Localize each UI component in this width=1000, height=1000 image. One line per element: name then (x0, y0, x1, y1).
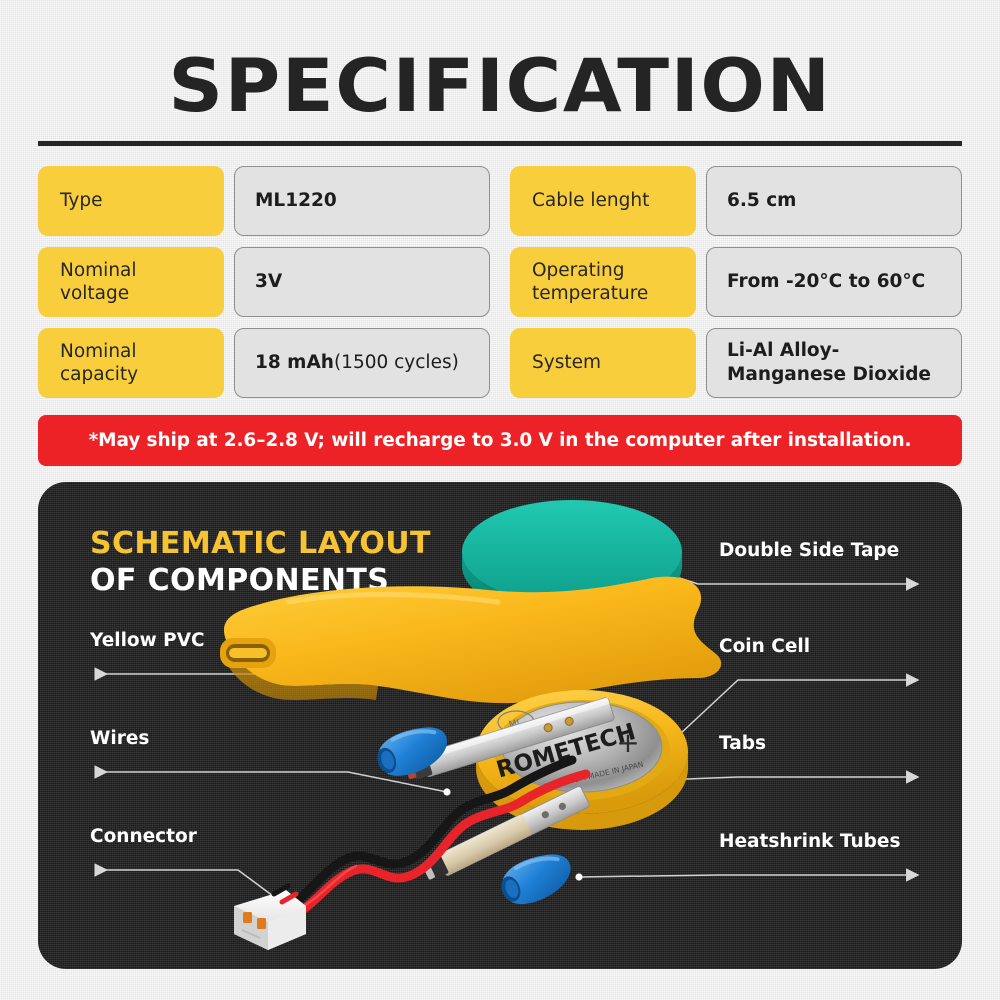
spec-value-nominal-voltage-text: 3V (255, 270, 282, 294)
spec-pair-nominal-voltage: Nominal voltage 3V (38, 247, 490, 317)
spec-value-operating-temperature-text: From -20°C to 60°C (727, 270, 925, 294)
callout-tabs: Tabs (719, 733, 766, 754)
spec-value-nominal-capacity-sub: (1500 cycles) (334, 351, 459, 375)
spec-pair-type: Type ML1220 (38, 166, 490, 236)
callout-coin-cell: Coin Cell (719, 636, 810, 657)
specification-table: Type ML1220 Cable lenght 6.5 cm Nominal … (38, 166, 962, 402)
spec-label-operating-temperature: Operating temperature (510, 247, 696, 317)
callout-heatshrink-tubes: Heatshrink Tubes (719, 831, 900, 852)
page-title: SPECIFICATION (0, 44, 1000, 129)
spec-value-nominal-capacity-text: 18 mAh (255, 351, 334, 375)
spec-label-cable-length: Cable lenght (510, 166, 696, 236)
spec-value-type: ML1220 (234, 166, 490, 236)
shipping-voltage-notice: *May ship at 2.6–2.8 V; will recharge to… (38, 415, 962, 466)
callout-connector: Connector (90, 826, 197, 847)
spec-value-system-text: Li-Al Alloy-Manganese Dioxide (727, 339, 941, 387)
schematic-panel: SCHEMATIC LAYOUT OF COMPONENTS (38, 482, 962, 969)
spec-label-nominal-voltage: Nominal voltage (38, 247, 224, 317)
spec-label-system: System (510, 328, 696, 398)
specification-infographic: SPECIFICATION Type ML1220 Cable lenght 6… (0, 0, 1000, 1000)
spec-value-cable-length-text: 6.5 cm (727, 189, 796, 213)
spec-value-nominal-capacity: 18 mAh (1500 cycles) (234, 328, 490, 398)
spec-label-type: Type (38, 166, 224, 236)
table-row: Nominal voltage 3V Operating temperature… (38, 247, 962, 317)
callout-yellow-pvc: Yellow PVC (90, 630, 205, 651)
spec-value-cable-length: 6.5 cm (706, 166, 962, 236)
connector-part (234, 886, 306, 950)
spec-pair-system: System Li-Al Alloy-Manganese Dioxide (510, 328, 962, 398)
yellow-pvc-part (220, 577, 721, 704)
spec-label-nominal-capacity: Nominal capacity (38, 328, 224, 398)
spec-value-nominal-voltage: 3V (234, 247, 490, 317)
spec-pair-cable-length: Cable lenght 6.5 cm (510, 166, 962, 236)
heatshrink-tube-lower-part (495, 847, 578, 912)
coin-cell-plus: + (616, 726, 639, 759)
spec-value-operating-temperature: From -20°C to 60°C (706, 247, 962, 317)
title-divider (38, 141, 962, 146)
spec-value-system: Li-Al Alloy-Manganese Dioxide (706, 328, 962, 398)
spec-pair-operating-temperature: Operating temperature From -20°C to 60°C (510, 247, 962, 317)
callout-double-side-tape: Double Side Tape (719, 540, 899, 561)
spec-value-type-text: ML1220 (255, 189, 337, 213)
table-row: Nominal capacity 18 mAh (1500 cycles) Sy… (38, 328, 962, 398)
callout-wires: Wires (90, 728, 149, 749)
spec-pair-nominal-capacity: Nominal capacity 18 mAh (1500 cycles) (38, 328, 490, 398)
table-row: Type ML1220 Cable lenght 6.5 cm (38, 166, 962, 236)
